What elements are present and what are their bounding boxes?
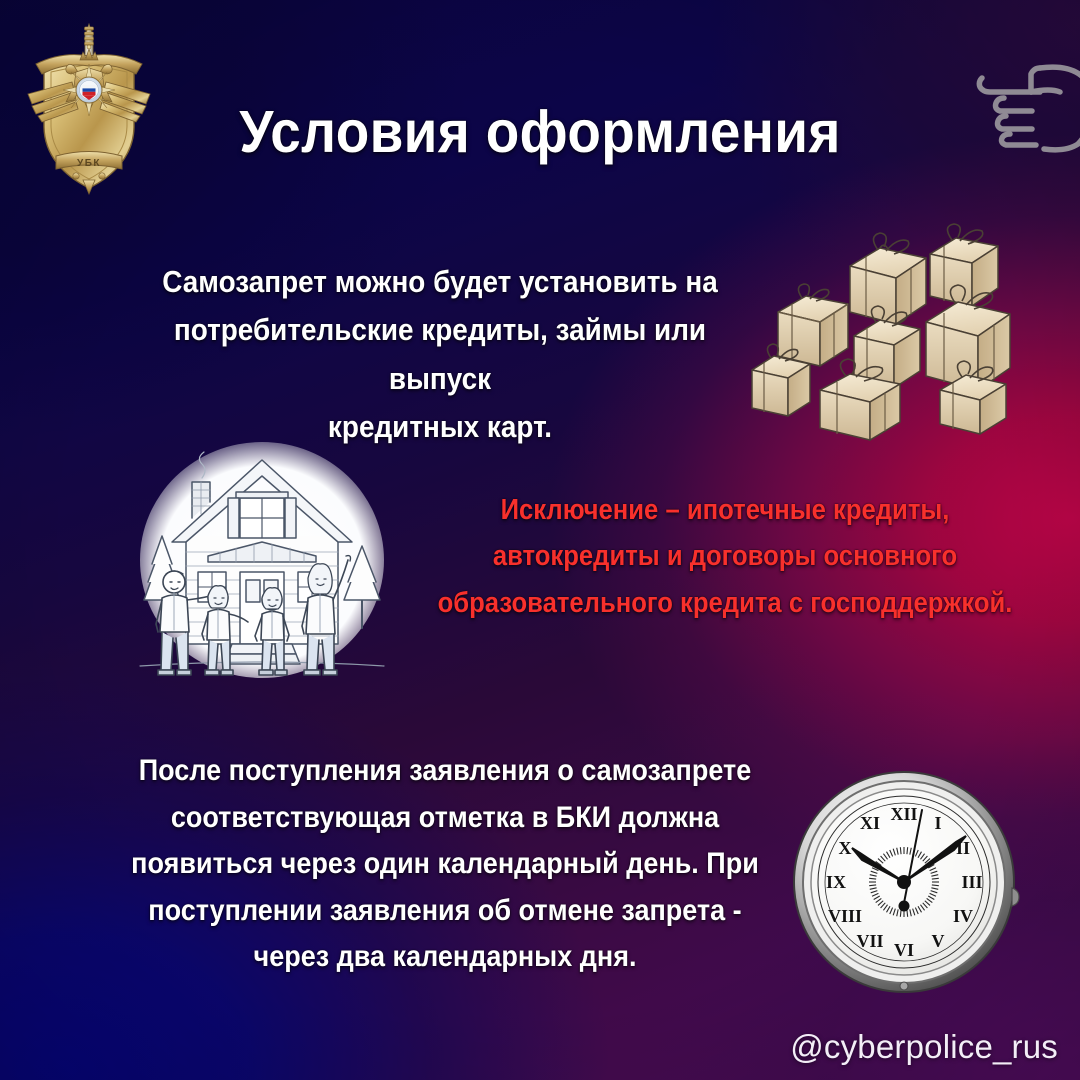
- text-line: Исключение – ипотечные кредиты,: [433, 487, 1018, 533]
- pointing-hand-icon: [974, 48, 1080, 152]
- text-line: появиться через один календарный день. П…: [130, 841, 760, 888]
- clock-numeral-3: III: [961, 872, 982, 892]
- paragraph-exceptions: Исключение – ипотечные кредиты, автокред…: [433, 487, 1018, 626]
- clock-numeral-1: I: [934, 813, 941, 833]
- text-line: образовательного кредита с господдержкой…: [433, 580, 1018, 626]
- mvd-cybercrime-emblem: УБК: [18, 16, 160, 196]
- text-line: поступлении заявления об отмене запрета …: [130, 888, 760, 935]
- clock-numeral-10: X: [839, 838, 852, 858]
- clock-numeral-7: VII: [856, 931, 883, 951]
- text-line: соответствующая отметка в БКИ должна: [130, 795, 760, 842]
- text-line: через два календарных дня.: [130, 934, 760, 981]
- clock-numeral-5: V: [932, 931, 945, 951]
- paragraph-self-ban-scope: Самозапрет можно будет установить на пот…: [143, 258, 737, 451]
- text-line: Самозапрет можно будет установить на: [143, 258, 737, 306]
- clock-numeral-12: XII: [890, 804, 917, 824]
- page-title: Условия оформления: [38, 98, 1042, 166]
- text-line: потребительские кредиты, займы или выпус…: [143, 306, 737, 403]
- house-family-illustration: [136, 432, 388, 680]
- analog-clock-illustration: XII I II III IV V VI VII VIII IX X XI: [790, 768, 1018, 996]
- clock-numeral-9: IX: [826, 872, 846, 892]
- poster-canvas: УБК: [0, 0, 1080, 1080]
- text-line: После поступления заявления о самозапрет…: [130, 748, 760, 795]
- paragraph-processing-deadlines: После поступления заявления о самозапрет…: [130, 748, 760, 981]
- clock-numeral-11: XI: [860, 813, 880, 833]
- channel-watermark: @cyberpolice_rus: [790, 1028, 1058, 1066]
- clock-numeral-8: VIII: [828, 906, 862, 926]
- gift-boxes-illustration: [748, 228, 1044, 440]
- text-line: кредитных карт.: [143, 403, 737, 451]
- clock-numeral-4: IV: [953, 906, 973, 926]
- text-line: автокредиты и договоры основного: [433, 533, 1018, 579]
- clock-numeral-6: VI: [894, 940, 914, 960]
- emblem-banner-text: УБК: [77, 158, 101, 169]
